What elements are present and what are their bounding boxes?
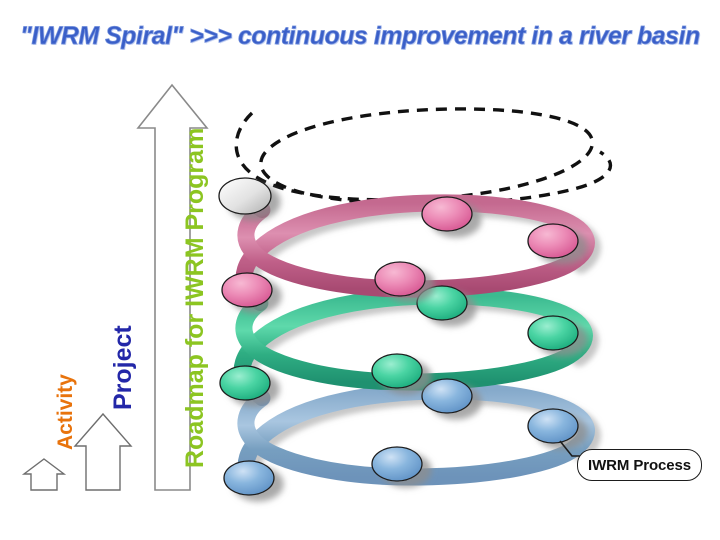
arrow-label-project: Project <box>109 325 138 410</box>
slide-canvas: "IWRM Spiral" >>> continuous improvement… <box>0 0 720 540</box>
node-blue-bottom[interactable] <box>372 447 422 481</box>
node-pink-top[interactable] <box>422 197 472 231</box>
arrow-label-roadmap: Roadmap for IWRM Program <box>181 128 210 468</box>
node-pink-right[interactable] <box>528 224 578 258</box>
node-blue-left[interactable] <box>224 461 274 495</box>
node-green-top[interactable] <box>417 286 467 320</box>
arrow-activity <box>24 459 64 490</box>
node-green-bottom[interactable] <box>372 354 422 388</box>
arrow-label-activity: Activity <box>54 374 78 450</box>
callout-iwrm-process[interactable]: IWRM Process <box>577 449 702 481</box>
arrow-project <box>75 414 131 490</box>
node-start-gray[interactable] <box>219 178 271 214</box>
node-green-left[interactable] <box>220 366 270 400</box>
node-blue-right[interactable] <box>528 409 578 443</box>
node-green-right[interactable] <box>528 316 578 350</box>
callout-label: IWRM Process <box>588 457 691 474</box>
node-blue-top[interactable] <box>422 379 472 413</box>
node-pink-bottom[interactable] <box>375 262 425 296</box>
node-pink-left[interactable] <box>222 273 272 307</box>
loop-future-dashed <box>236 109 610 204</box>
